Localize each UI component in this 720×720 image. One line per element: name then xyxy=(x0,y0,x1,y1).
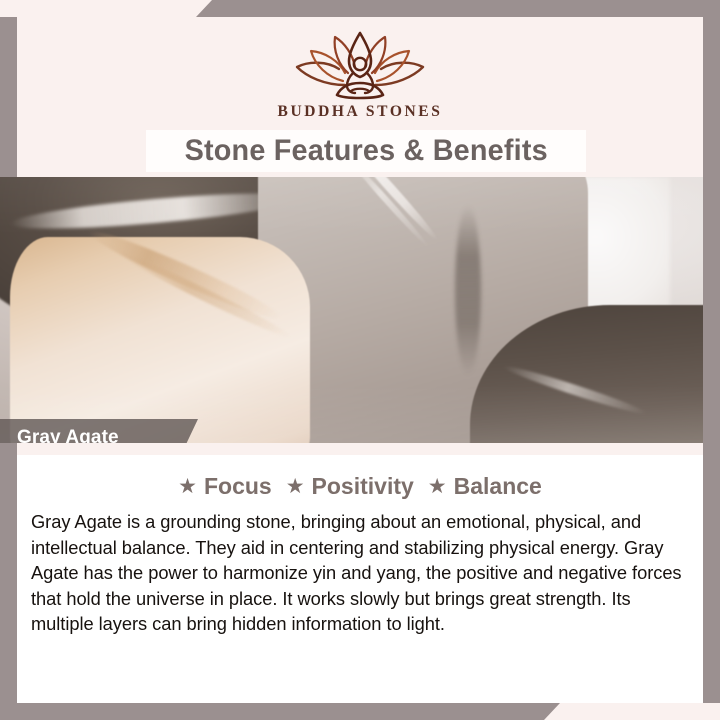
brand-header: BUDDHA STONES xyxy=(17,17,703,130)
star-icon: ★ xyxy=(178,476,197,497)
frame-border-bottom xyxy=(0,703,560,720)
frame-border-top xyxy=(196,0,720,17)
title-band: Stone Features & Benefits xyxy=(146,130,586,172)
stone-name-label: Gray Agate xyxy=(17,427,119,443)
page-title: Stone Features & Benefits xyxy=(184,134,547,168)
keyword-label: Balance xyxy=(454,473,542,500)
stone-name-banner: Gray Agate xyxy=(0,419,198,443)
stone-description: Gray Agate is a grounding stone, bringin… xyxy=(31,509,689,637)
photo-vignette xyxy=(0,177,703,443)
content-panel: ★ Focus ★ Positivity ★ Balance Gray Agat… xyxy=(17,455,703,703)
brand-name: BUDDHA STONES xyxy=(278,103,443,121)
stone-info-card: BUDDHA STONES Stone Features & Benefits … xyxy=(0,0,720,720)
keyword-label: Focus xyxy=(204,473,272,500)
keyword-item-positivity: ★ Positivity xyxy=(286,473,414,500)
star-icon: ★ xyxy=(428,476,447,497)
card-inner: BUDDHA STONES Stone Features & Benefits … xyxy=(17,17,703,703)
star-icon: ★ xyxy=(286,476,305,497)
frame-border-right xyxy=(703,0,720,703)
lotus-meditation-icon xyxy=(285,25,435,101)
stone-photo: Gray Agate xyxy=(0,177,703,443)
keyword-item-focus: ★ Focus xyxy=(178,473,272,500)
keyword-list: ★ Focus ★ Positivity ★ Balance xyxy=(17,455,703,500)
keyword-label: Positivity xyxy=(312,473,414,500)
keyword-item-balance: ★ Balance xyxy=(428,473,542,500)
